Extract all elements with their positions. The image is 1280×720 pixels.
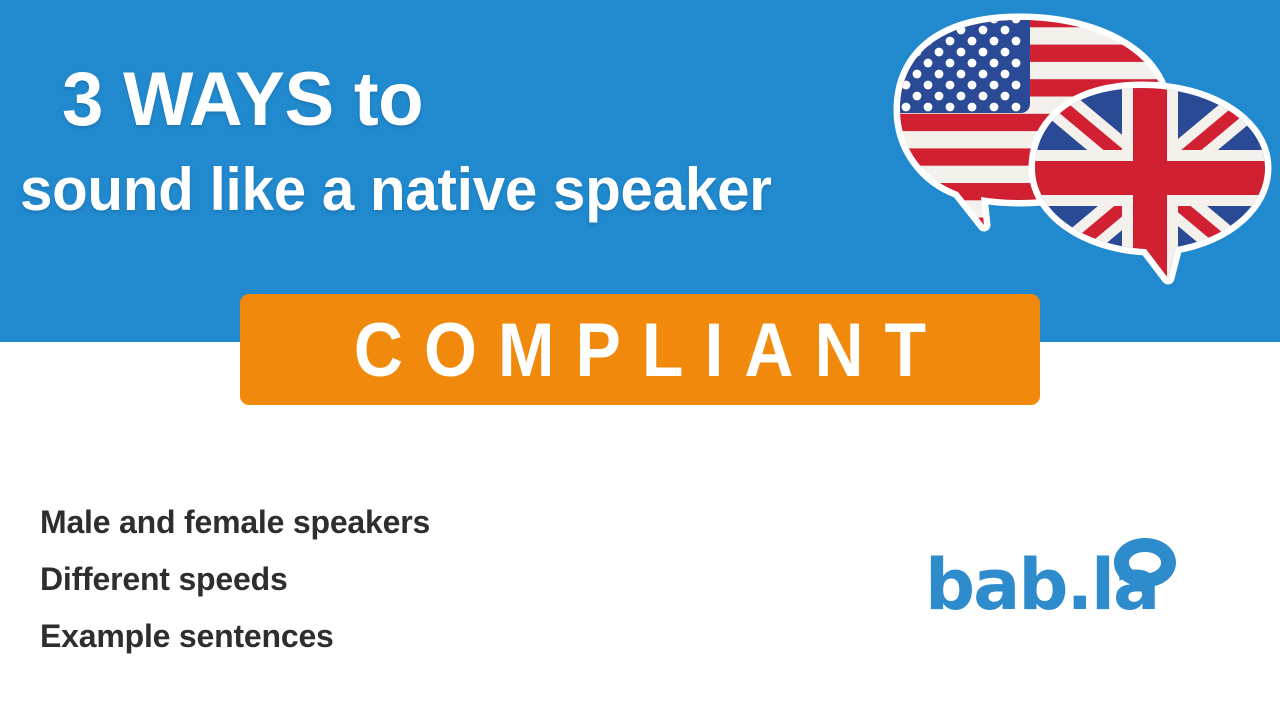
uk-flag-bubble-group xyxy=(1030,80,1275,285)
speech-bubble-icon xyxy=(1112,536,1178,619)
featured-word-banner: COMPLIANT xyxy=(240,294,1040,405)
slide-canvas: 3 WAYS to sound like a native speaker CO… xyxy=(0,0,1280,720)
list-item: Different speeds xyxy=(40,551,430,608)
featured-word: COMPLIANT xyxy=(333,311,947,387)
flag-speech-bubbles xyxy=(880,10,1280,300)
babla-logo: bab.la xyxy=(925,536,1175,636)
feature-list: Male and female speakers Different speed… xyxy=(40,494,430,665)
headline-line-2: sound like a native speaker xyxy=(20,154,895,226)
list-item: Example sentences xyxy=(40,608,430,665)
headline-line-1: 3 WAYS to xyxy=(62,58,905,142)
list-item: Male and female speakers xyxy=(40,494,430,551)
headline-block: 3 WAYS to sound like a native speaker xyxy=(62,58,922,226)
